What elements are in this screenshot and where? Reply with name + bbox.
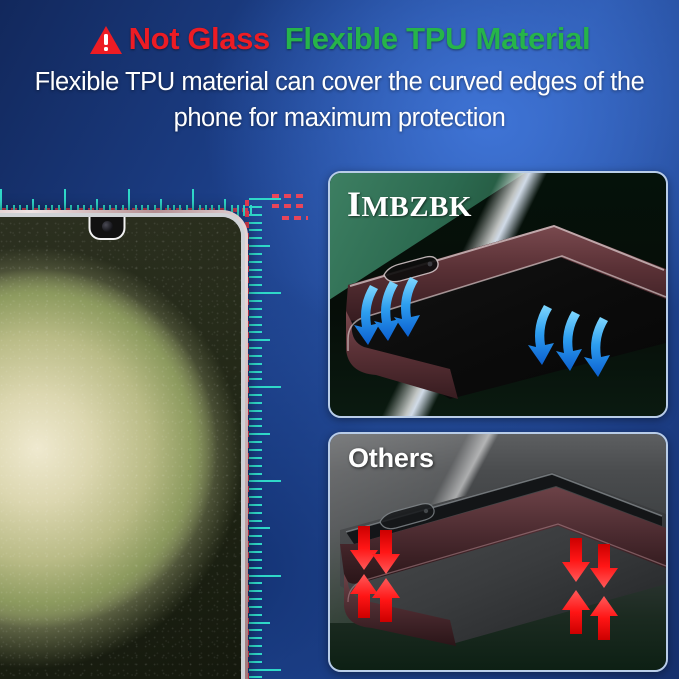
ruler-tick (249, 637, 262, 639)
ruler-tick (249, 575, 281, 577)
screen-wallpaper (0, 217, 241, 679)
ruler-tick (249, 441, 262, 443)
ruler-tick (249, 465, 262, 467)
ruler-tick (249, 276, 262, 278)
ruler-tick (249, 378, 262, 380)
ruler-tick (249, 229, 262, 231)
blue-wrap-arrows (330, 173, 666, 416)
ruler-tick (249, 582, 262, 584)
ruler-tick (249, 316, 262, 318)
ruler-tick (249, 425, 262, 427)
ruler-tick (249, 269, 262, 271)
ruler-tick (249, 598, 262, 600)
phone-device (0, 210, 248, 679)
ruler-tick (249, 512, 262, 514)
ruler-tick (249, 535, 262, 537)
ruler-tick (249, 457, 262, 459)
ruler-tick (249, 198, 281, 200)
ruler-tick (249, 661, 262, 663)
ruler-tick (249, 567, 262, 569)
ruler-tick (249, 614, 262, 616)
ruler-tick (249, 653, 262, 655)
ruler-tick (249, 645, 262, 647)
ruler-tick (249, 300, 262, 302)
ruler-tick (249, 418, 262, 420)
phone-bezel (0, 213, 245, 679)
ruler-tick (249, 504, 262, 506)
ruler-tick (243, 205, 245, 216)
ruler-tick (249, 363, 262, 365)
ruler-right (249, 198, 283, 679)
ruler-tick (249, 331, 262, 333)
ruler-tick (249, 449, 262, 451)
ruler-tick (249, 394, 262, 396)
ruler-tick (249, 284, 262, 286)
ruler-tick (249, 488, 262, 490)
ruler-tick (249, 371, 262, 373)
ruler-tick (249, 433, 270, 435)
headline-text: Flexible TPU Material (285, 21, 591, 57)
ruler-tick (249, 629, 262, 631)
ruler-tick (249, 520, 262, 522)
measurement-dash-3 (282, 216, 308, 220)
ruler-tick (249, 559, 262, 561)
ruler-tick (249, 253, 262, 255)
camera-lens-icon (102, 221, 113, 232)
not-glass-badge: Not Glass (129, 21, 270, 57)
ruler-tick (249, 339, 270, 341)
ruler-tick (249, 347, 262, 349)
product-feature-image: Not Glass Flexible TPU Material Flexible… (0, 0, 679, 679)
ruler-tick (249, 355, 262, 357)
ruler-tick (249, 324, 262, 326)
header-banner: Not Glass Flexible TPU Material Flexible… (0, 0, 679, 152)
comparison-panel-others: Others (328, 432, 668, 672)
front-camera-notch (89, 217, 126, 240)
warning-triangle-icon (89, 25, 123, 56)
ruler-tick (249, 245, 270, 247)
ruler-tick (249, 590, 262, 592)
ruler-tick (249, 206, 262, 208)
ruler-tick (249, 410, 262, 412)
ruler-tick (249, 237, 262, 239)
ruler-tick (249, 496, 262, 498)
ruler-tick (249, 527, 270, 529)
comparison-panel-imbzbk: IMBZBK (328, 171, 668, 418)
ruler-tick (249, 669, 281, 671)
ruler-tick (249, 222, 262, 224)
ruler-tick (249, 292, 281, 294)
ruler-tick (249, 606, 262, 608)
ruler-tick (249, 308, 262, 310)
ruler-tick (249, 214, 262, 216)
ruler-tick (249, 386, 281, 388)
ruler-tick (249, 543, 262, 545)
ruler-tick (249, 551, 262, 553)
red-gap-arrows (330, 434, 666, 670)
ruler-tick (249, 261, 262, 263)
ruler-tick (249, 676, 262, 678)
subtitle-text: Flexible TPU material can cover the curv… (18, 64, 661, 136)
ruler-tick (249, 473, 262, 475)
ruler-tick (249, 402, 262, 404)
phone-measurement-stage (0, 170, 320, 679)
phone-screen (0, 217, 241, 679)
title-row: Not Glass Flexible TPU Material (0, 18, 679, 60)
ruler-tick (249, 622, 270, 624)
ruler-tick (249, 480, 281, 482)
